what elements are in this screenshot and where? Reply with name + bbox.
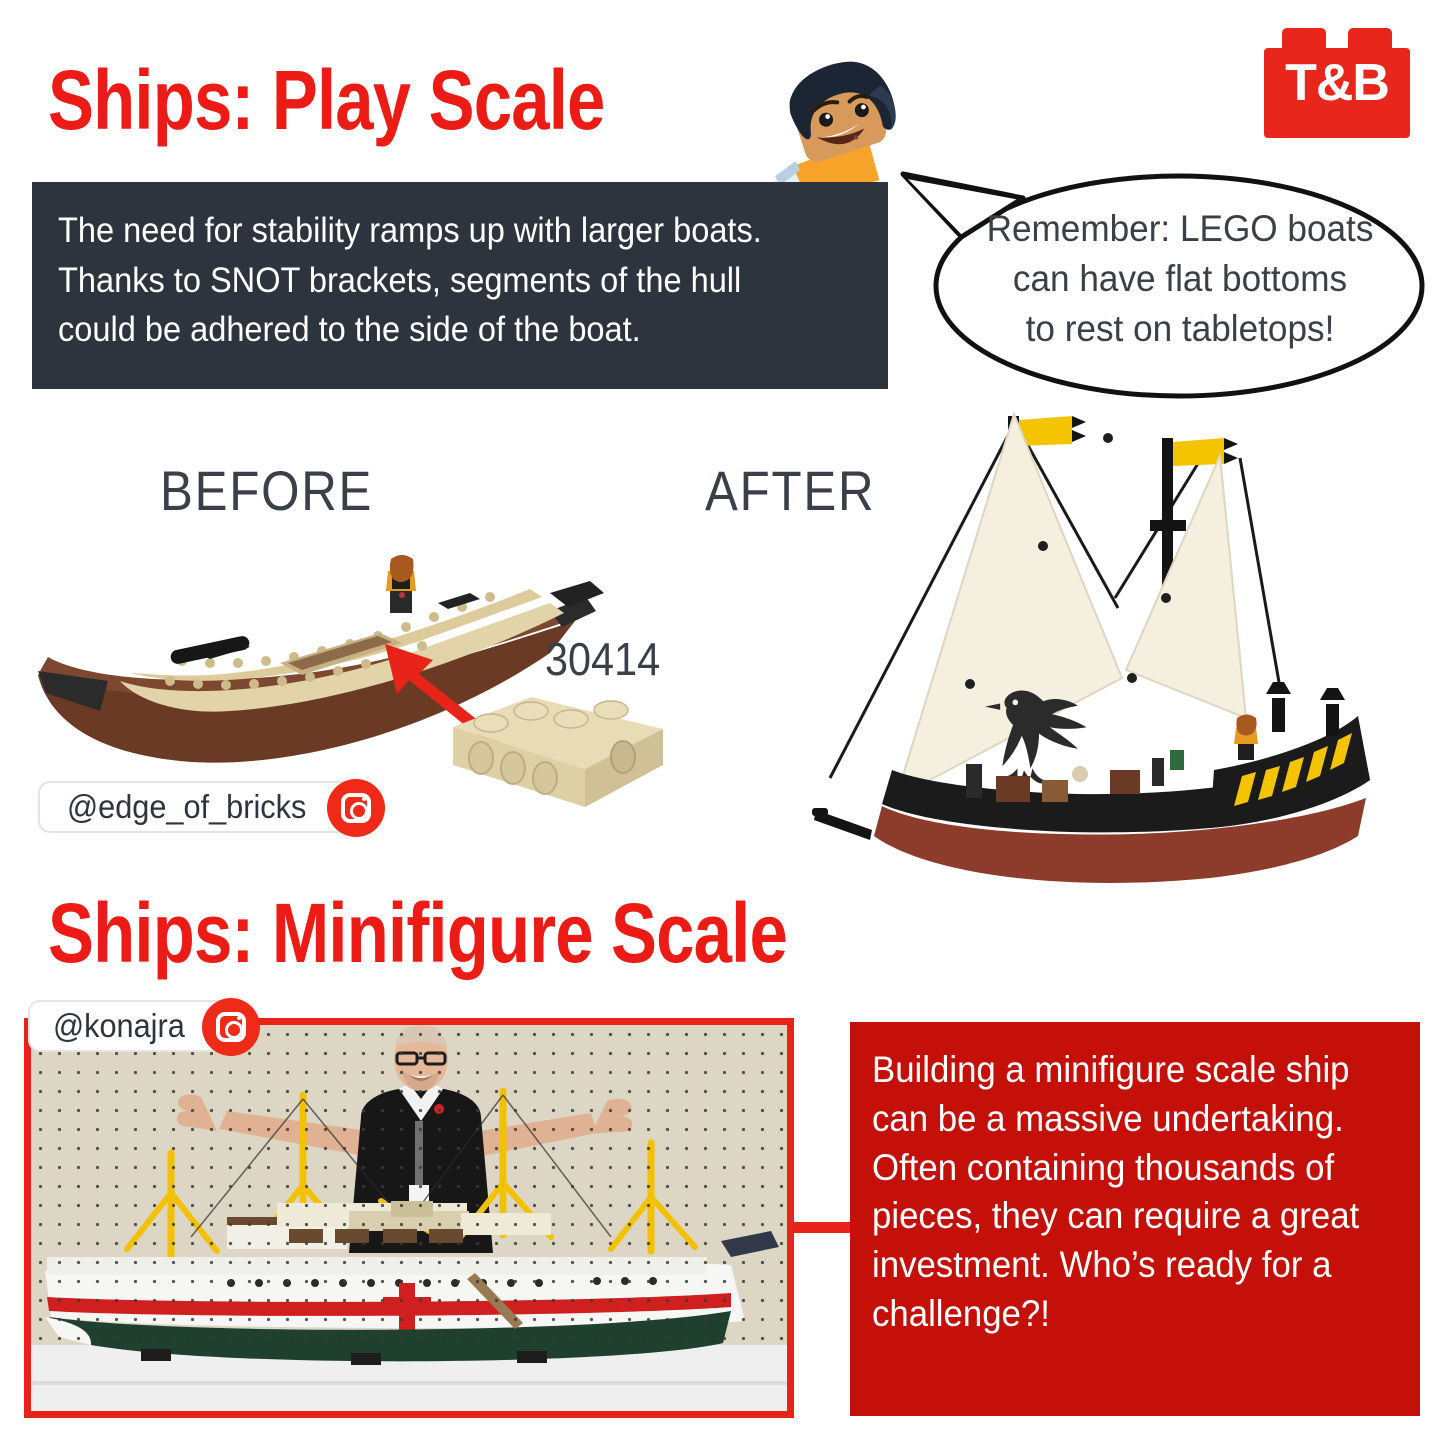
page-title-play-scale: Ships: Play Scale	[48, 52, 605, 149]
instagram-icon[interactable]	[202, 998, 260, 1056]
brand-logo-brick: T&B	[1264, 28, 1410, 138]
instagram-glyph	[341, 793, 371, 823]
speech-line-3: to rest on tabletops!	[976, 304, 1385, 354]
speech-line-1: Remember: LEGO boats	[976, 204, 1385, 254]
callout-box-minifigure-scale: Building a minifigure scale ship can be …	[850, 1022, 1420, 1416]
callout-box-play-scale: The need for stability ramps up with lar…	[32, 182, 888, 389]
speech-line-2: can have flat bottoms	[976, 254, 1385, 304]
credit-handle: @edge_of_bricks	[67, 788, 306, 826]
snot-brick-image	[443, 673, 663, 813]
credit-badge-konajra[interactable]: @konajra	[28, 1000, 238, 1052]
part-number-label: 30414	[545, 632, 660, 686]
infographic-canvas: Ships: Play Scale T&B	[0, 0, 1440, 1440]
credit-handle: @konajra	[53, 1007, 185, 1045]
credit-badge-edge-of-bricks[interactable]: @edge_of_bricks	[38, 781, 363, 833]
minifigure-scale-photo	[24, 1018, 794, 1418]
callout-connector-line	[788, 1222, 854, 1233]
callout-text-play-scale: The need for stability ramps up with lar…	[58, 206, 806, 355]
page-title-minifigure-scale: Ships: Minifigure Scale	[48, 885, 787, 982]
callout-text-minifigure-scale: Building a minifigure scale ship can be …	[872, 1046, 1366, 1339]
instagram-glyph	[216, 1012, 246, 1042]
after-ship-image	[810, 398, 1440, 908]
speech-bubble: Remember: LEGO boats can have flat botto…	[893, 162, 1433, 406]
speech-bubble-text: Remember: LEGO boats can have flat botto…	[965, 204, 1395, 354]
logo-text: T&B	[1264, 28, 1410, 138]
instagram-icon[interactable]	[327, 779, 385, 837]
